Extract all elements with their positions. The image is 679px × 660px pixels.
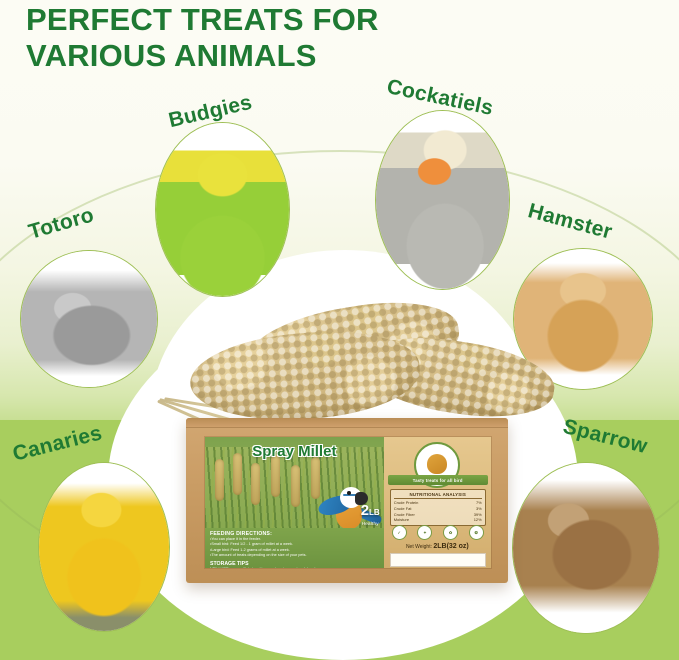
page-title: PERFECT TREATS FOR VARIOUS ANIMALS: [26, 2, 496, 75]
label-blank-area: [390, 553, 486, 567]
pet-photo-totoro: [20, 250, 158, 388]
pet-photo-canaries: [38, 462, 170, 632]
net-weight-value: 2LB(32 oz): [433, 543, 468, 550]
canary-image: [39, 463, 169, 631]
millet-head: [291, 465, 300, 507]
certification-icons: ✓ ✦ ✿ ❂: [392, 525, 484, 540]
millet-head: [271, 455, 280, 497]
pet-photo-budgies: [155, 122, 290, 297]
brand-bird-icon: [427, 454, 447, 474]
nutrition-value: 12%: [474, 517, 482, 523]
weight-amount: 2: [361, 502, 369, 519]
nutrition-heading: NUTRITIONAL ANALYSIS: [394, 492, 482, 499]
label-title: Spray Millet: [205, 443, 384, 460]
product-box: Spray Millet 2LB Healthy FEEDING DIRECTI…: [186, 418, 508, 583]
sparrow-image: [513, 463, 659, 633]
pet-photo-cockatiels: [375, 110, 510, 290]
millet-head: [215, 459, 224, 501]
headline-line-2: VARIOUS ANIMALS: [26, 38, 496, 74]
box-seam: [186, 427, 508, 428]
weight-badge: 2LB Healthy: [361, 502, 380, 526]
storage-line: NEILLURE spray millet stored in a cool e…: [210, 567, 379, 568]
cert-icon-no-additive: ✿: [443, 525, 458, 540]
nutrition-name: Moisture: [394, 517, 409, 523]
millet-spray: [187, 325, 422, 427]
feeding-directions-block: FEEDING DIRECTIONS: •You can place it in…: [205, 528, 384, 568]
box-top-edge: [186, 418, 508, 427]
cert-icon-natural: ✦: [417, 525, 432, 540]
net-weight-label: Net Weight:: [406, 544, 432, 550]
cockatiel-image: [376, 111, 509, 289]
millet-head: [251, 463, 260, 505]
chinchilla-image: [21, 251, 157, 387]
macaw-eye: [347, 491, 351, 495]
brand-ribbon: Tasty treats for all bird: [388, 475, 488, 485]
feeding-line: •The amount of treats depending on the s…: [210, 553, 379, 558]
pet-photo-sparrow: [512, 462, 660, 634]
nutrition-row: Moisture 12%: [394, 517, 482, 523]
label-left-panel: Spray Millet 2LB Healthy FEEDING DIRECTI…: [205, 437, 384, 568]
cert-icon-non-gmo: ✓: [392, 525, 407, 540]
weight-tagline: Healthy: [361, 521, 380, 526]
cert-icon-quality: ❂: [469, 525, 484, 540]
net-weight: Net Weight: 2LB(32 oz): [384, 543, 491, 550]
budgerigar-image: [156, 123, 289, 296]
nutrition-table: NUTRITIONAL ANALYSIS Crude Protein 7% Cr…: [390, 489, 486, 526]
headline-line-1: PERFECT TREATS FOR: [26, 2, 496, 38]
product-label: Spray Millet 2LB Healthy FEEDING DIRECTI…: [204, 436, 492, 569]
millet-head: [311, 457, 320, 499]
label-right-panel: NEILLURE Tasty treats for all bird NUTRI…: [384, 437, 491, 568]
weight-unit: LB: [369, 508, 380, 517]
